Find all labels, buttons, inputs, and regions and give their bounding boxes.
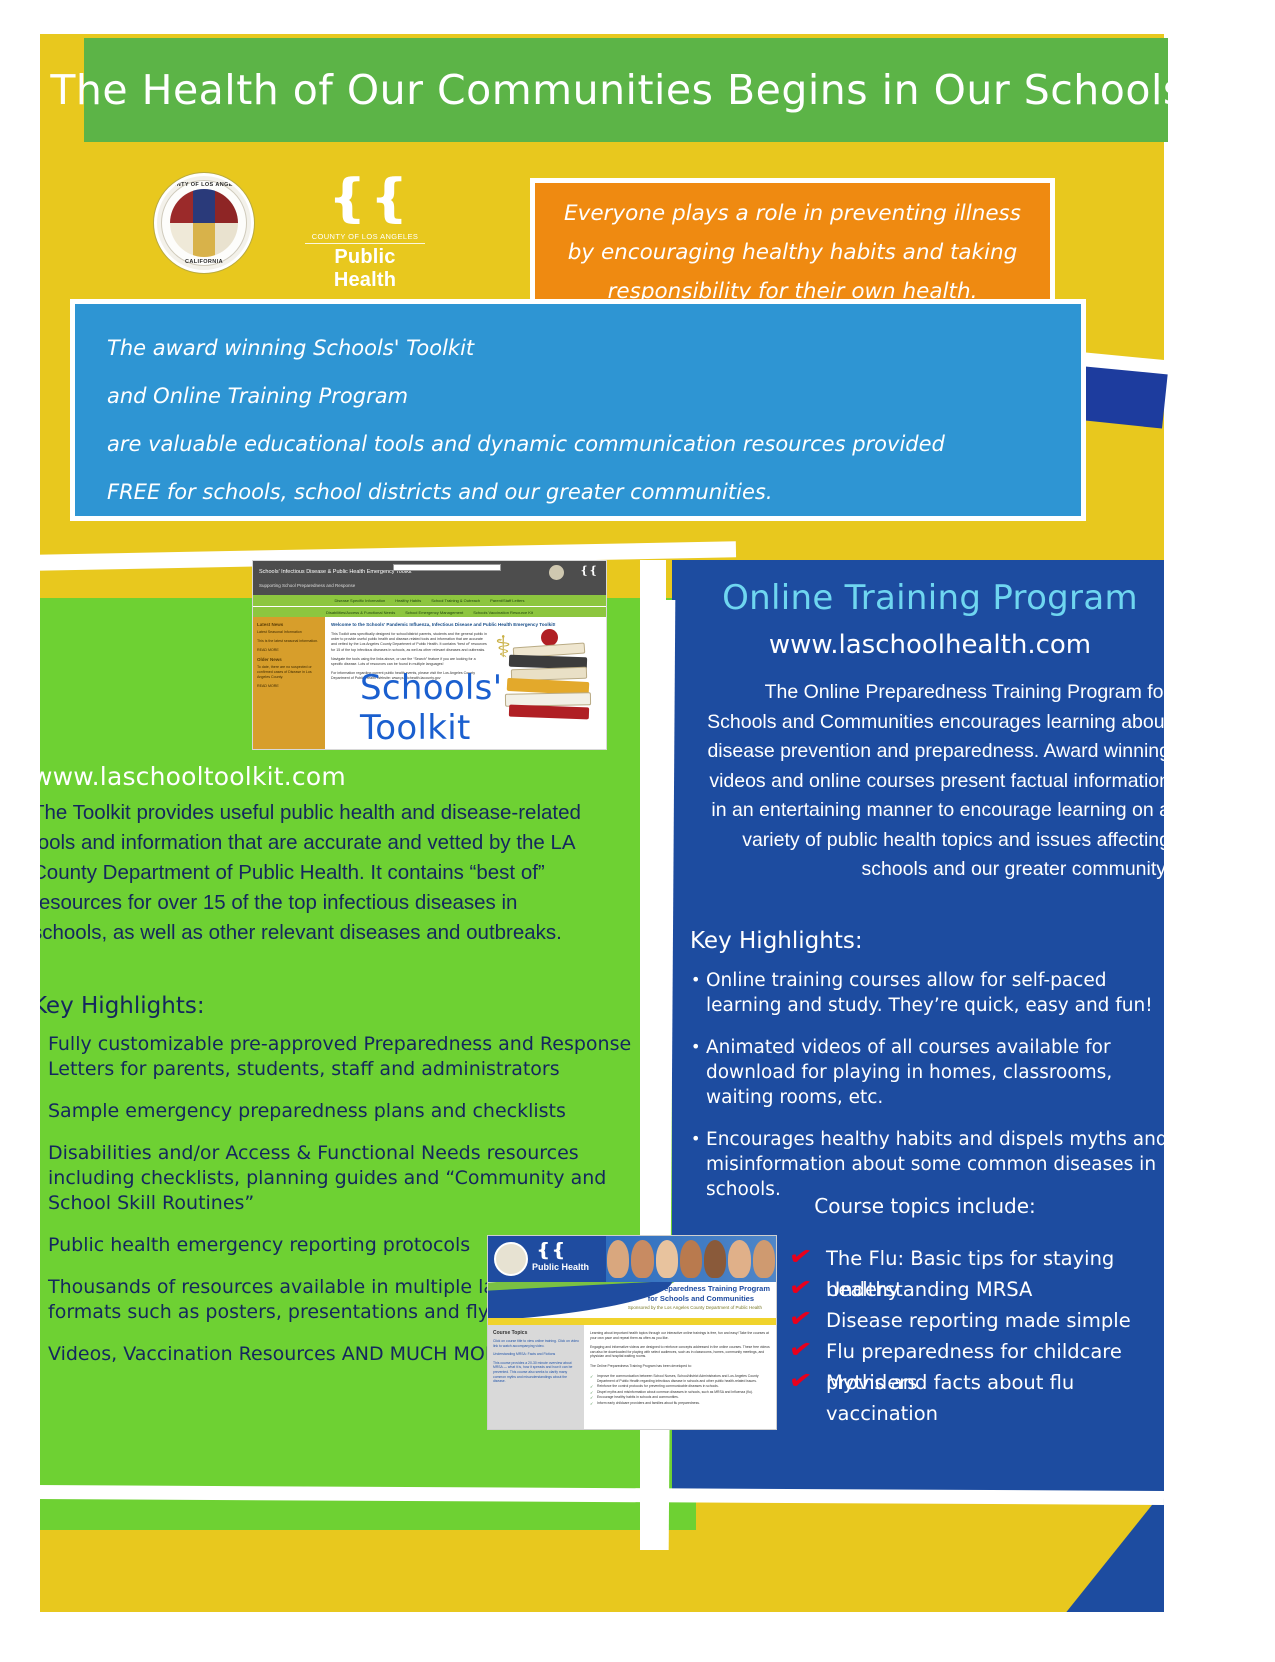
toolkit-sidebar-item[interactable]: READ MORE [257,648,321,653]
otp-sidebar-item: This course provides a 20-30 minute over… [493,1361,579,1384]
seal-bottom-label: CALIFORNIA [157,259,251,265]
toolkit-nav-item[interactable]: Disabilities/Access & Functional Needs [326,610,395,615]
toolkit-shot-header: Schools' Infectious Disease & Public Hea… [253,561,606,583]
page-title: The Health of Our Communities Begins in … [50,66,1201,114]
blue-callout-line-2: and Online Training Program [107,372,1055,420]
list-item: Sample emergency preparedness plans and … [32,1099,632,1124]
toolkit-shot-site-title: Schools' Infectious Disease & Public Hea… [259,569,412,575]
otp-goal-item: Improve the communication between School… [590,1374,770,1385]
toolkit-shot-sidebar: Latest News Latest Seasonal Information … [253,617,325,750]
toolkit-body-paragraph: This Toolkit was specifically designed f… [331,632,487,653]
toolkit-sidebar-item: This is the latest seasonal information. [257,639,321,644]
list-item: ✔ Flu preparedness for childcare provide… [790,1336,1170,1367]
toolkit-shot-ph-icon: ❴❴ [580,564,598,577]
otp-shot-header: ❴❴ Public Health [488,1236,776,1282]
online-training-title: Online Training Program [700,578,1160,618]
public-health-logo: ❴❴ COUNTY OF LOS ANGELES Public Health [305,176,425,272]
course-topics-list: ✔ The Flu: Basic tips for staying health… [790,1243,1170,1398]
county-seal-icon [494,1242,528,1276]
online-training-url[interactable]: www.laschoolhealth.com [700,630,1160,660]
otp-sidebar-item[interactable]: Click on course title to view online tra… [493,1339,579,1348]
toolkit-shot-nav-row-1[interactable]: Disease Specific Information Healthy Hab… [253,595,606,606]
toolkit-nav-item[interactable]: Parent/Staff Letters [490,598,524,603]
otp-shot-ph-label: Public Health [532,1262,589,1272]
page-edge-bottom [0,1620,1275,1662]
blue-callout-line-1: The award winning Schools' Toolkit [107,324,1055,372]
otp-goal-item: Inform early childcare providers and fam… [590,1401,770,1406]
toolkit-key-highlights-label: Key Highlights: [32,993,205,1019]
blue-callout-line-4: FREE for schools, school districts and o… [107,468,1055,516]
check-icon: ✔ [787,1367,816,1394]
county-seal-icon: COUNTY OF LOS ANGELES CALIFORNIA [154,173,254,273]
toolkit-nav-item[interactable]: School Training & Outreach [431,598,480,603]
blue-callout-line-3: are valuable educational tools and dynam… [107,420,1055,468]
otp-shot-sidebar: Course Topics Click on course title to v… [488,1325,584,1430]
toolkit-sidebar-item[interactable]: READ MORE [257,684,321,689]
otp-banner-line-2: for Schools and Communities [648,1294,754,1303]
green-footer-overlap [36,1500,696,1530]
toolkit-shot-nav-row-2[interactable]: Disabilities/Access & Functional Needs S… [253,606,606,617]
toolkit-nav-item[interactable]: School Emergency Management [405,610,463,615]
otp-banner-line-1: Online Preparedness Training Program [631,1284,770,1293]
toolkit-sidebar-item: Latest Seasonal Information [257,630,321,635]
online-training-bullet-list: Online training courses allow for self-p… [690,968,1170,1219]
list-item: Online training courses allow for self-p… [690,968,1170,1018]
toolkit-sidebar-item: To date, there are no suspected or confi… [257,665,321,680]
otp-sidebar-heading: Course Topics [493,1330,579,1336]
page-edge-right [1235,0,1275,1662]
toolkit-paragraph: The Toolkit provides useful public healt… [32,798,592,948]
seal-top-label: COUNTY OF LOS ANGELES [157,182,251,188]
seal-quadrants [170,189,238,257]
otp-shot-body: Course Topics Click on course title to v… [488,1325,776,1430]
check-icon: ✔ [787,1274,816,1301]
otp-banner-line-3: Sponsored by the Los Angeles County Depa… [628,1305,762,1310]
list-item: Fully customizable pre-approved Prepared… [32,1032,632,1082]
blue-callout-box: The award winning Schools' Toolkit and O… [70,299,1086,521]
apple-icon [541,629,558,646]
online-training-paragraph: The Online Preparedness Training Program… [690,678,1170,885]
toolkit-url[interactable]: www.laschooltoolkit.com [32,762,346,791]
online-training-website-screenshot[interactable]: ❴❴ Public Health Online Preparedness Tra… [487,1235,777,1430]
toolkit-shot-seal-icon [549,565,564,580]
check-icon: ✔ [787,1243,816,1270]
list-item: ✔ Understanding MRSA [790,1274,1170,1305]
page-edge-top [0,0,1275,24]
toolkit-sidebar-item: Older News [257,657,321,662]
header-banner: The Health of Our Communities Begins in … [84,38,1168,142]
otp-shot-banner: Online Preparedness Training Program for… [488,1282,776,1318]
otp-sidebar-item[interactable]: Understanding MRSA: Facts and Fictions [493,1352,579,1357]
list-item: Encourages healthy habits and dispels my… [690,1127,1170,1202]
toolkit-nav-item[interactable]: Disease Specific Information [334,598,385,603]
public-health-swoosh-icon: ❴❴ [536,1240,566,1261]
otp-body-paragraph: Learning about important health topics t… [590,1331,770,1340]
otp-shot-main: Learning about important health topics t… [584,1325,776,1430]
list-item: Disabilities and/or Access & Functional … [32,1141,632,1216]
online-training-key-highlights-label: Key Highlights: [690,928,863,954]
course-topic-label: Disease reporting made simple [826,1309,1131,1332]
check-icon: ✔ [787,1336,816,1363]
page-edge-left [0,0,40,1662]
list-item: ✔ Myths and facts about flu vaccination [790,1367,1170,1398]
otp-shot-yellow-rule [488,1318,776,1325]
otp-body-paragraph: Engaging and informative videos are desi… [590,1345,770,1359]
schools-toolkit-title: Schools' Toolkit [360,668,610,748]
public-health-swoosh-icon: ❴❴ [327,176,385,228]
check-icon: ✔ [787,1305,816,1332]
toolkit-sidebar-heading: Latest News [257,622,321,627]
list-item: Animated videos of all courses available… [690,1035,1170,1110]
course-topic-label: Understanding MRSA [826,1278,1032,1301]
toolkit-nav-item[interactable]: Healthy Habits [395,598,421,603]
toolkit-nav-item[interactable]: Schools Vaccination Resource Kit [473,610,533,615]
ph-county-line: COUNTY OF LOS ANGELES [305,232,425,244]
list-item: ✔ The Flu: Basic tips for staying health… [790,1243,1170,1274]
orange-callout-text: Everyone plays a role in preventing illn… [549,194,1036,311]
otp-goals-heading: The Online Preparedness Training Program… [590,1364,770,1369]
toolkit-shot-subtitle: Supporting School Preparedness and Respo… [253,583,606,595]
students-photo [606,1236,776,1282]
toolkit-body-paragraph: Navigate the tools using the links above… [331,657,487,667]
poster-canvas: The Health of Our Communities Begins in … [0,0,1275,1662]
course-topics-label: Course topics include: [700,1194,1150,1218]
list-item: ✔ Disease reporting made simple [790,1305,1170,1336]
toolkit-shot-search-input[interactable] [393,564,501,571]
ph-name-line: Public Health [305,246,425,292]
toolkit-welcome-heading: Welcome to the Schools' Pandemic Influen… [331,622,600,628]
